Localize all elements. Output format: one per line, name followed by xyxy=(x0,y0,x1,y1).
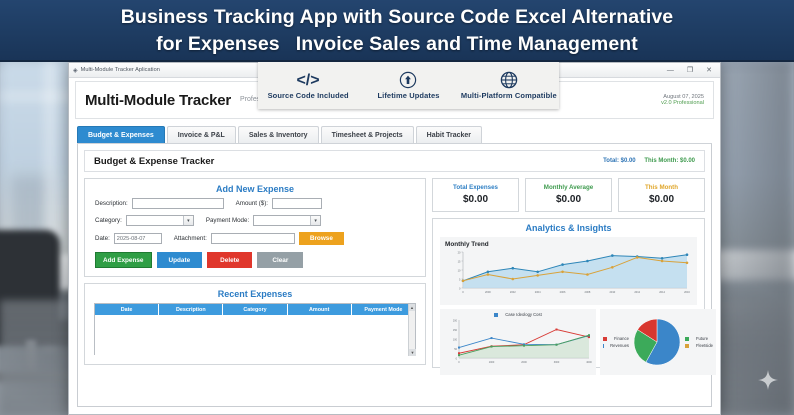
feature-badge-bar: </> Source Code Included Lifetime Update… xyxy=(258,61,559,109)
date-input[interactable] xyxy=(114,233,162,244)
promo-headline-line2-part1: for Expenses xyxy=(156,33,280,55)
promo-banner: Business Tracking App with Source Code E… xyxy=(0,0,794,62)
description-label: Description: xyxy=(95,200,128,207)
stat-card-row: Total Expenses $0.00 Monthly Average $0.… xyxy=(432,178,705,212)
svg-text:100: 100 xyxy=(453,338,458,341)
bottom-chart-row: Case Ideology Cost 050100150200010002000… xyxy=(440,309,697,375)
stat-card-total-expenses: Total Expenses $0.00 xyxy=(432,178,519,212)
promo-headline-line2: for ExpensesInvoice Sales and Time Manag… xyxy=(0,31,794,58)
payment-mode-select[interactable]: ▾ xyxy=(253,215,321,226)
svg-text:2004: 2004 xyxy=(535,290,541,294)
maximize-button[interactable]: ❐ xyxy=(687,67,693,74)
svg-text:1000: 1000 xyxy=(489,361,495,364)
feature-badge-multi-platform: Multi-Platform Compatible xyxy=(459,70,559,100)
globe-icon xyxy=(459,70,559,90)
attachment-label: Attachment: xyxy=(174,235,207,242)
recent-expenses-card: Recent Expenses Date Description Categor… xyxy=(84,283,426,365)
panel-title: Budget & Expense Tracker xyxy=(94,156,214,167)
legend-label-fleetside: Fleetside xyxy=(696,343,713,348)
tab-panel-budget-expenses: Budget & Expense Tracker Total: $0.00 Th… xyxy=(77,144,712,407)
svg-text:20: 20 xyxy=(458,250,461,254)
legend-label-revenues: Revenues xyxy=(610,343,629,348)
scroll-up-icon[interactable]: ▲ xyxy=(409,304,415,311)
svg-text:2010: 2010 xyxy=(609,290,615,294)
svg-text:50: 50 xyxy=(454,348,457,351)
minimize-button[interactable]: — xyxy=(667,67,674,74)
left-column: Add New Expense Description: Amount ($):… xyxy=(84,178,426,368)
stat-card-this-month: This Month $0.00 xyxy=(618,178,705,212)
legend-swatch xyxy=(603,337,607,341)
column-header-category[interactable]: Category xyxy=(223,304,287,315)
page-title: Multi-Module Tracker xyxy=(85,92,231,109)
svg-text:</>: </> xyxy=(297,72,319,88)
form-action-buttons: Add Expense Update Delete Clear xyxy=(95,252,415,268)
analytics-card: Analytics & Insights Monthly Trend 05101… xyxy=(432,218,705,368)
svg-text:0: 0 xyxy=(459,286,461,290)
stat-label: Total Expenses xyxy=(433,184,518,191)
table-body-empty[interactable] xyxy=(95,315,415,356)
pie-left-legend: Finance Revenues xyxy=(603,336,629,348)
chevron-down-icon: ▾ xyxy=(183,216,193,225)
svg-text:2008: 2008 xyxy=(585,290,591,294)
stat-card-monthly-average: Monthly Average $0.00 xyxy=(525,178,612,212)
attachment-input[interactable] xyxy=(211,233,295,244)
table-scrollbar[interactable]: ▲ ▼ xyxy=(408,304,415,356)
app-logo-icon: ◈ xyxy=(73,67,78,74)
distribution-pie-chart: Finance Revenues xyxy=(600,309,716,375)
add-expense-button[interactable]: Add Expense xyxy=(95,252,152,268)
svg-text:0: 0 xyxy=(462,290,464,294)
form-row-date-attachment: Date: Attachment: Browse xyxy=(95,232,415,245)
pie-right-legend: Future Fleetside xyxy=(685,336,713,348)
panel-header: Budget & Expense Tracker Total: $0.00 Th… xyxy=(84,150,705,172)
close-button[interactable]: ✕ xyxy=(706,67,712,74)
svg-text:2000: 2000 xyxy=(521,361,527,364)
legend-label-future: Future xyxy=(696,336,708,341)
analytics-title: Analytics & Insights xyxy=(433,219,704,237)
delete-button[interactable]: Delete xyxy=(207,252,252,268)
svg-text:2014: 2014 xyxy=(659,290,665,294)
column-header-payment-mode[interactable]: Payment Mode xyxy=(352,304,415,315)
promo-headline-line1: Business Tracking App with Source Code E… xyxy=(0,0,794,31)
monthly-trend-plot: 0510152002000200220042006200820102012201… xyxy=(445,249,693,297)
window-controls: — ❐ ✕ xyxy=(667,67,716,74)
column-header-amount[interactable]: Amount xyxy=(288,304,352,315)
feature-badge-lifetime-updates: Lifetime Updates xyxy=(358,70,458,100)
scroll-down-icon[interactable]: ▼ xyxy=(409,349,416,356)
category-select[interactable]: ▾ xyxy=(126,215,194,226)
upgrade-arrow-icon xyxy=(358,70,458,90)
feature-badge-label: Multi-Platform Compatible xyxy=(459,91,559,100)
svg-text:2006: 2006 xyxy=(560,290,566,294)
tab-invoice-pl[interactable]: Invoice & P&L xyxy=(167,126,236,143)
recent-expenses-title: Recent Expenses xyxy=(85,284,425,303)
monthly-trend-chart: Monthly Trend 05101520020002002200420062… xyxy=(440,237,697,305)
category-label: Category: xyxy=(95,217,122,224)
monthly-trend-title: Monthly Trend xyxy=(445,241,692,248)
version-label: v2.0 Professional xyxy=(661,100,704,106)
feature-badge-label: Lifetime Updates xyxy=(358,91,458,100)
update-button[interactable]: Update xyxy=(157,252,203,268)
amount-label: Amount ($): xyxy=(236,200,268,207)
stat-value: $0.00 xyxy=(526,194,611,205)
right-column: Total Expenses $0.00 Monthly Average $0.… xyxy=(432,178,705,368)
tab-strip: Budget & Expenses Invoice & P&L Sales & … xyxy=(77,126,712,144)
feature-badge-label: Source Code Included xyxy=(258,91,358,100)
svg-text:0: 0 xyxy=(456,357,458,360)
stat-value: $0.00 xyxy=(619,194,704,205)
app-header-meta: August 07, 2025 v2.0 Professional xyxy=(661,94,704,106)
add-expense-card: Add New Expense Description: Amount ($):… xyxy=(84,178,426,277)
svg-text:4000: 4000 xyxy=(586,361,592,364)
column-header-description[interactable]: Description xyxy=(159,304,223,315)
stat-label: Monthly Average xyxy=(526,184,611,191)
payment-mode-label: Payment Mode: xyxy=(206,217,249,224)
summary-total: Total: $0.00 xyxy=(603,158,636,164)
column-header-date[interactable]: Date xyxy=(95,304,159,315)
promo-headline-line2-part2: Invoice Sales and Time Management xyxy=(296,33,638,55)
tab-timesheet-projects[interactable]: Timesheet & Projects xyxy=(321,126,414,143)
window-title: Multi-Module Tracker Aplication xyxy=(81,67,160,73)
stat-label: This Month xyxy=(619,184,704,191)
date-label: Date: xyxy=(95,235,110,242)
form-row-description: Description: Amount ($): xyxy=(95,198,415,209)
amount-input[interactable] xyxy=(272,198,322,209)
legend-swatch xyxy=(685,344,689,348)
legend-swatch xyxy=(494,313,498,317)
add-expense-title: Add New Expense xyxy=(85,179,425,198)
tab-budget-expenses[interactable]: Budget & Expenses xyxy=(77,126,165,143)
legend-swatch xyxy=(685,337,689,341)
expense-form: Description: Amount ($): Category: ▾ Pay… xyxy=(85,198,425,276)
svg-text:200: 200 xyxy=(453,319,458,322)
code-brackets-icon: </> xyxy=(258,70,358,90)
stat-value: $0.00 xyxy=(433,194,518,205)
legend-label-finance: Finance xyxy=(614,336,629,341)
case-cost-plot: 05010015020001000200030004000 xyxy=(443,317,593,367)
svg-text:10: 10 xyxy=(458,268,461,272)
svg-text:2000: 2000 xyxy=(485,290,491,294)
svg-text:3000: 3000 xyxy=(554,361,560,364)
table-header-row: Date Description Category Amount Payment… xyxy=(95,304,415,315)
summary-this-month: This Month: $0.00 xyxy=(644,158,695,164)
sparkle-icon xyxy=(758,370,778,395)
application-window: ◈ Multi-Module Tracker Aplication — ❐ ✕ … xyxy=(68,62,721,415)
svg-text:15: 15 xyxy=(458,259,461,263)
pie-plot xyxy=(631,316,683,368)
form-row-category: Category: ▾ Payment Mode: ▾ xyxy=(95,215,415,226)
chevron-down-icon: ▾ xyxy=(310,216,320,225)
svg-text:0: 0 xyxy=(458,361,460,364)
svg-text:2016: 2016 xyxy=(684,290,690,294)
svg-text:2002: 2002 xyxy=(510,290,516,294)
svg-text:150: 150 xyxy=(453,329,458,332)
recent-expenses-table: Date Description Category Amount Payment… xyxy=(94,303,416,355)
panel-content: Add New Expense Description: Amount ($):… xyxy=(84,178,705,368)
description-input[interactable] xyxy=(132,198,224,209)
case-cost-chart: Case Ideology Cost 050100150200010002000… xyxy=(440,309,596,375)
tab-sales-inventory[interactable]: Sales & Inventory xyxy=(238,126,319,143)
feature-badge-source-code: </> Source Code Included xyxy=(258,70,358,100)
svg-text:2012: 2012 xyxy=(634,290,640,294)
panel-summary: Total: $0.00 This Month: $0.00 xyxy=(603,158,695,164)
clear-button[interactable]: Clear xyxy=(257,252,303,268)
tab-habit-tracker[interactable]: Habit Tracker xyxy=(416,126,482,143)
svg-text:5: 5 xyxy=(459,277,461,281)
browse-button[interactable]: Browse xyxy=(299,232,344,245)
